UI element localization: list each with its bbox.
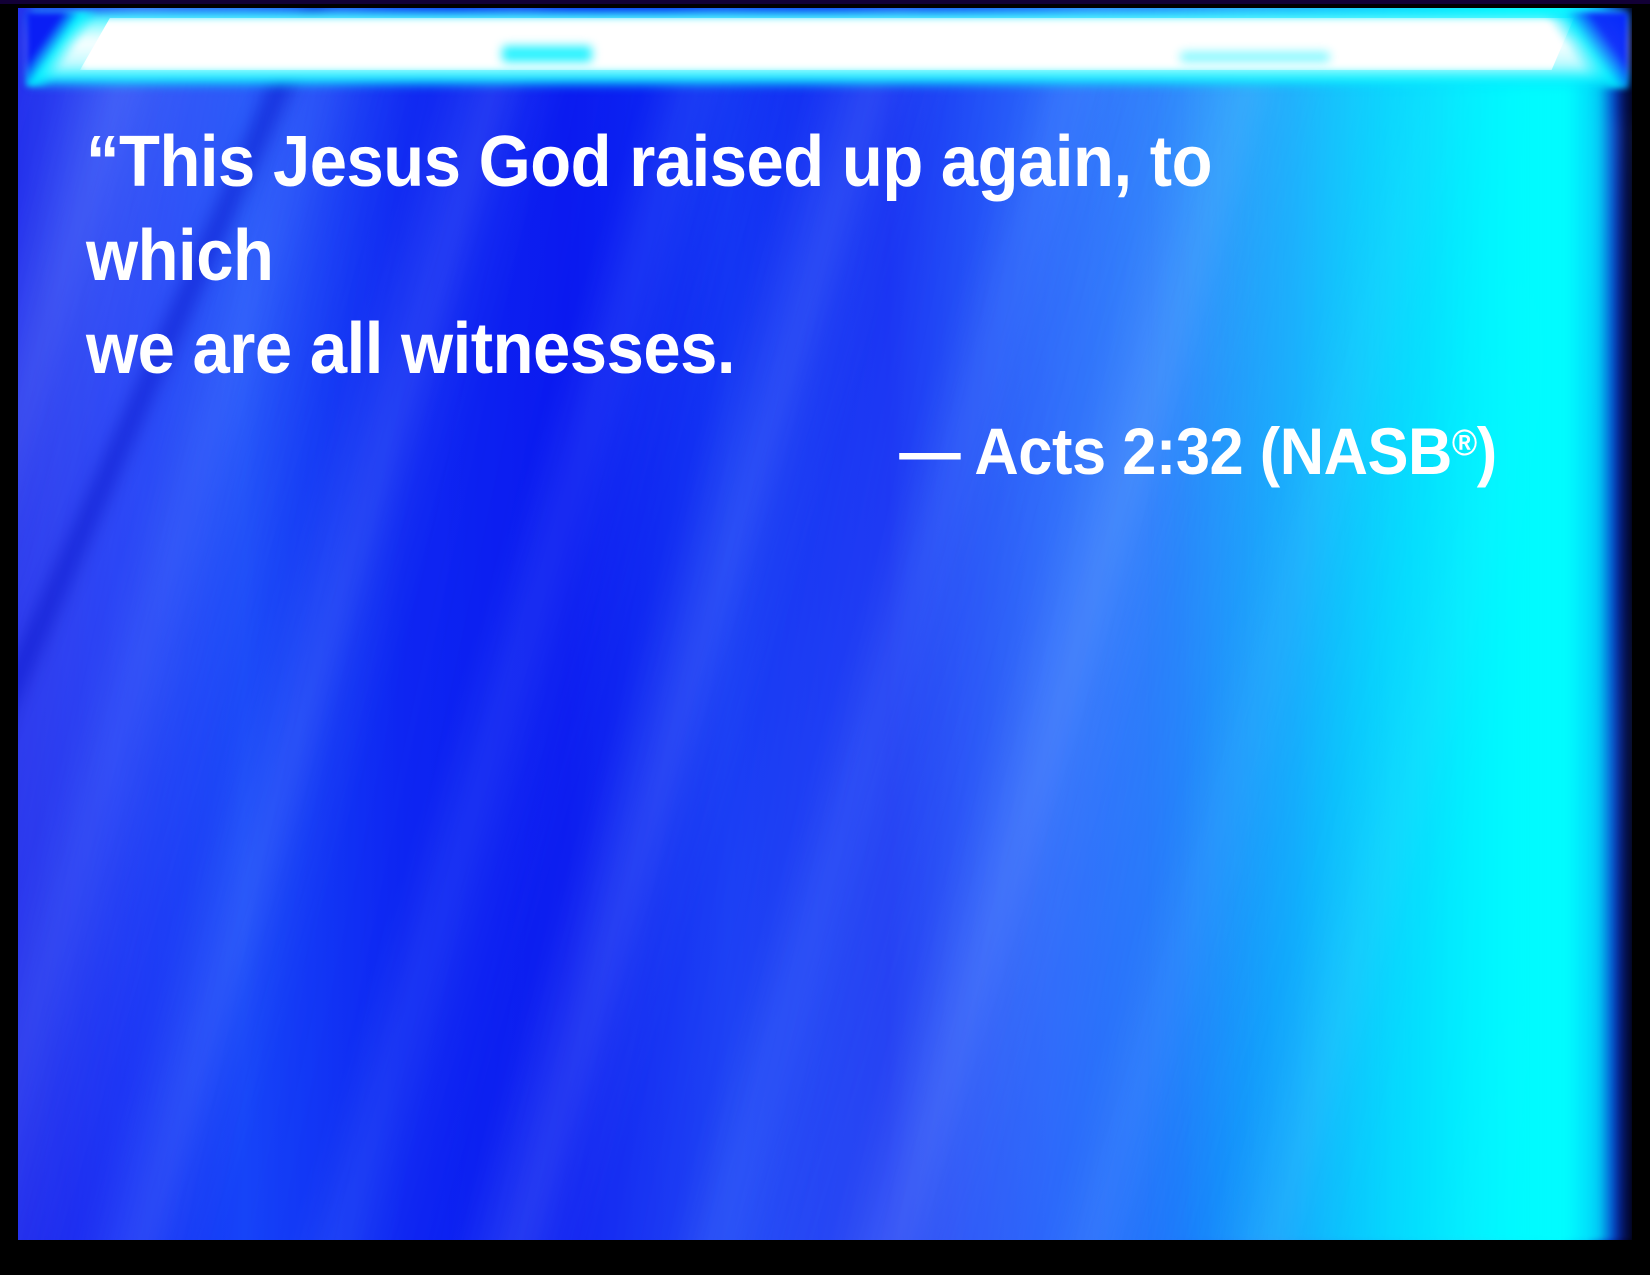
citation-translation: NASB bbox=[1280, 414, 1452, 488]
citation-reference: 2:32 bbox=[1122, 414, 1243, 488]
citation-open-paren: ( bbox=[1260, 414, 1280, 488]
top-border-hairline bbox=[0, 0, 1650, 4]
text-layer: “This Jesus God raised up again, to whic… bbox=[18, 8, 1632, 1240]
registered-trademark-icon: ® bbox=[1452, 422, 1477, 463]
verse-line-1: “This Jesus God raised up again, to whic… bbox=[86, 116, 1407, 303]
verse-line-2: we are all witnesses. bbox=[86, 303, 1407, 397]
verse-citation: — Acts 2:32 (NASB®) bbox=[185, 411, 1506, 493]
citation-book: Acts bbox=[974, 414, 1105, 488]
slide-canvas: “This Jesus God raised up again, to whic… bbox=[18, 8, 1632, 1240]
verse-block: “This Jesus God raised up again, to whic… bbox=[86, 116, 1506, 493]
citation-dash: — bbox=[899, 414, 960, 488]
scripture-slide: “This Jesus God raised up again, to whic… bbox=[0, 0, 1650, 1275]
citation-close-paren: ) bbox=[1477, 414, 1497, 488]
